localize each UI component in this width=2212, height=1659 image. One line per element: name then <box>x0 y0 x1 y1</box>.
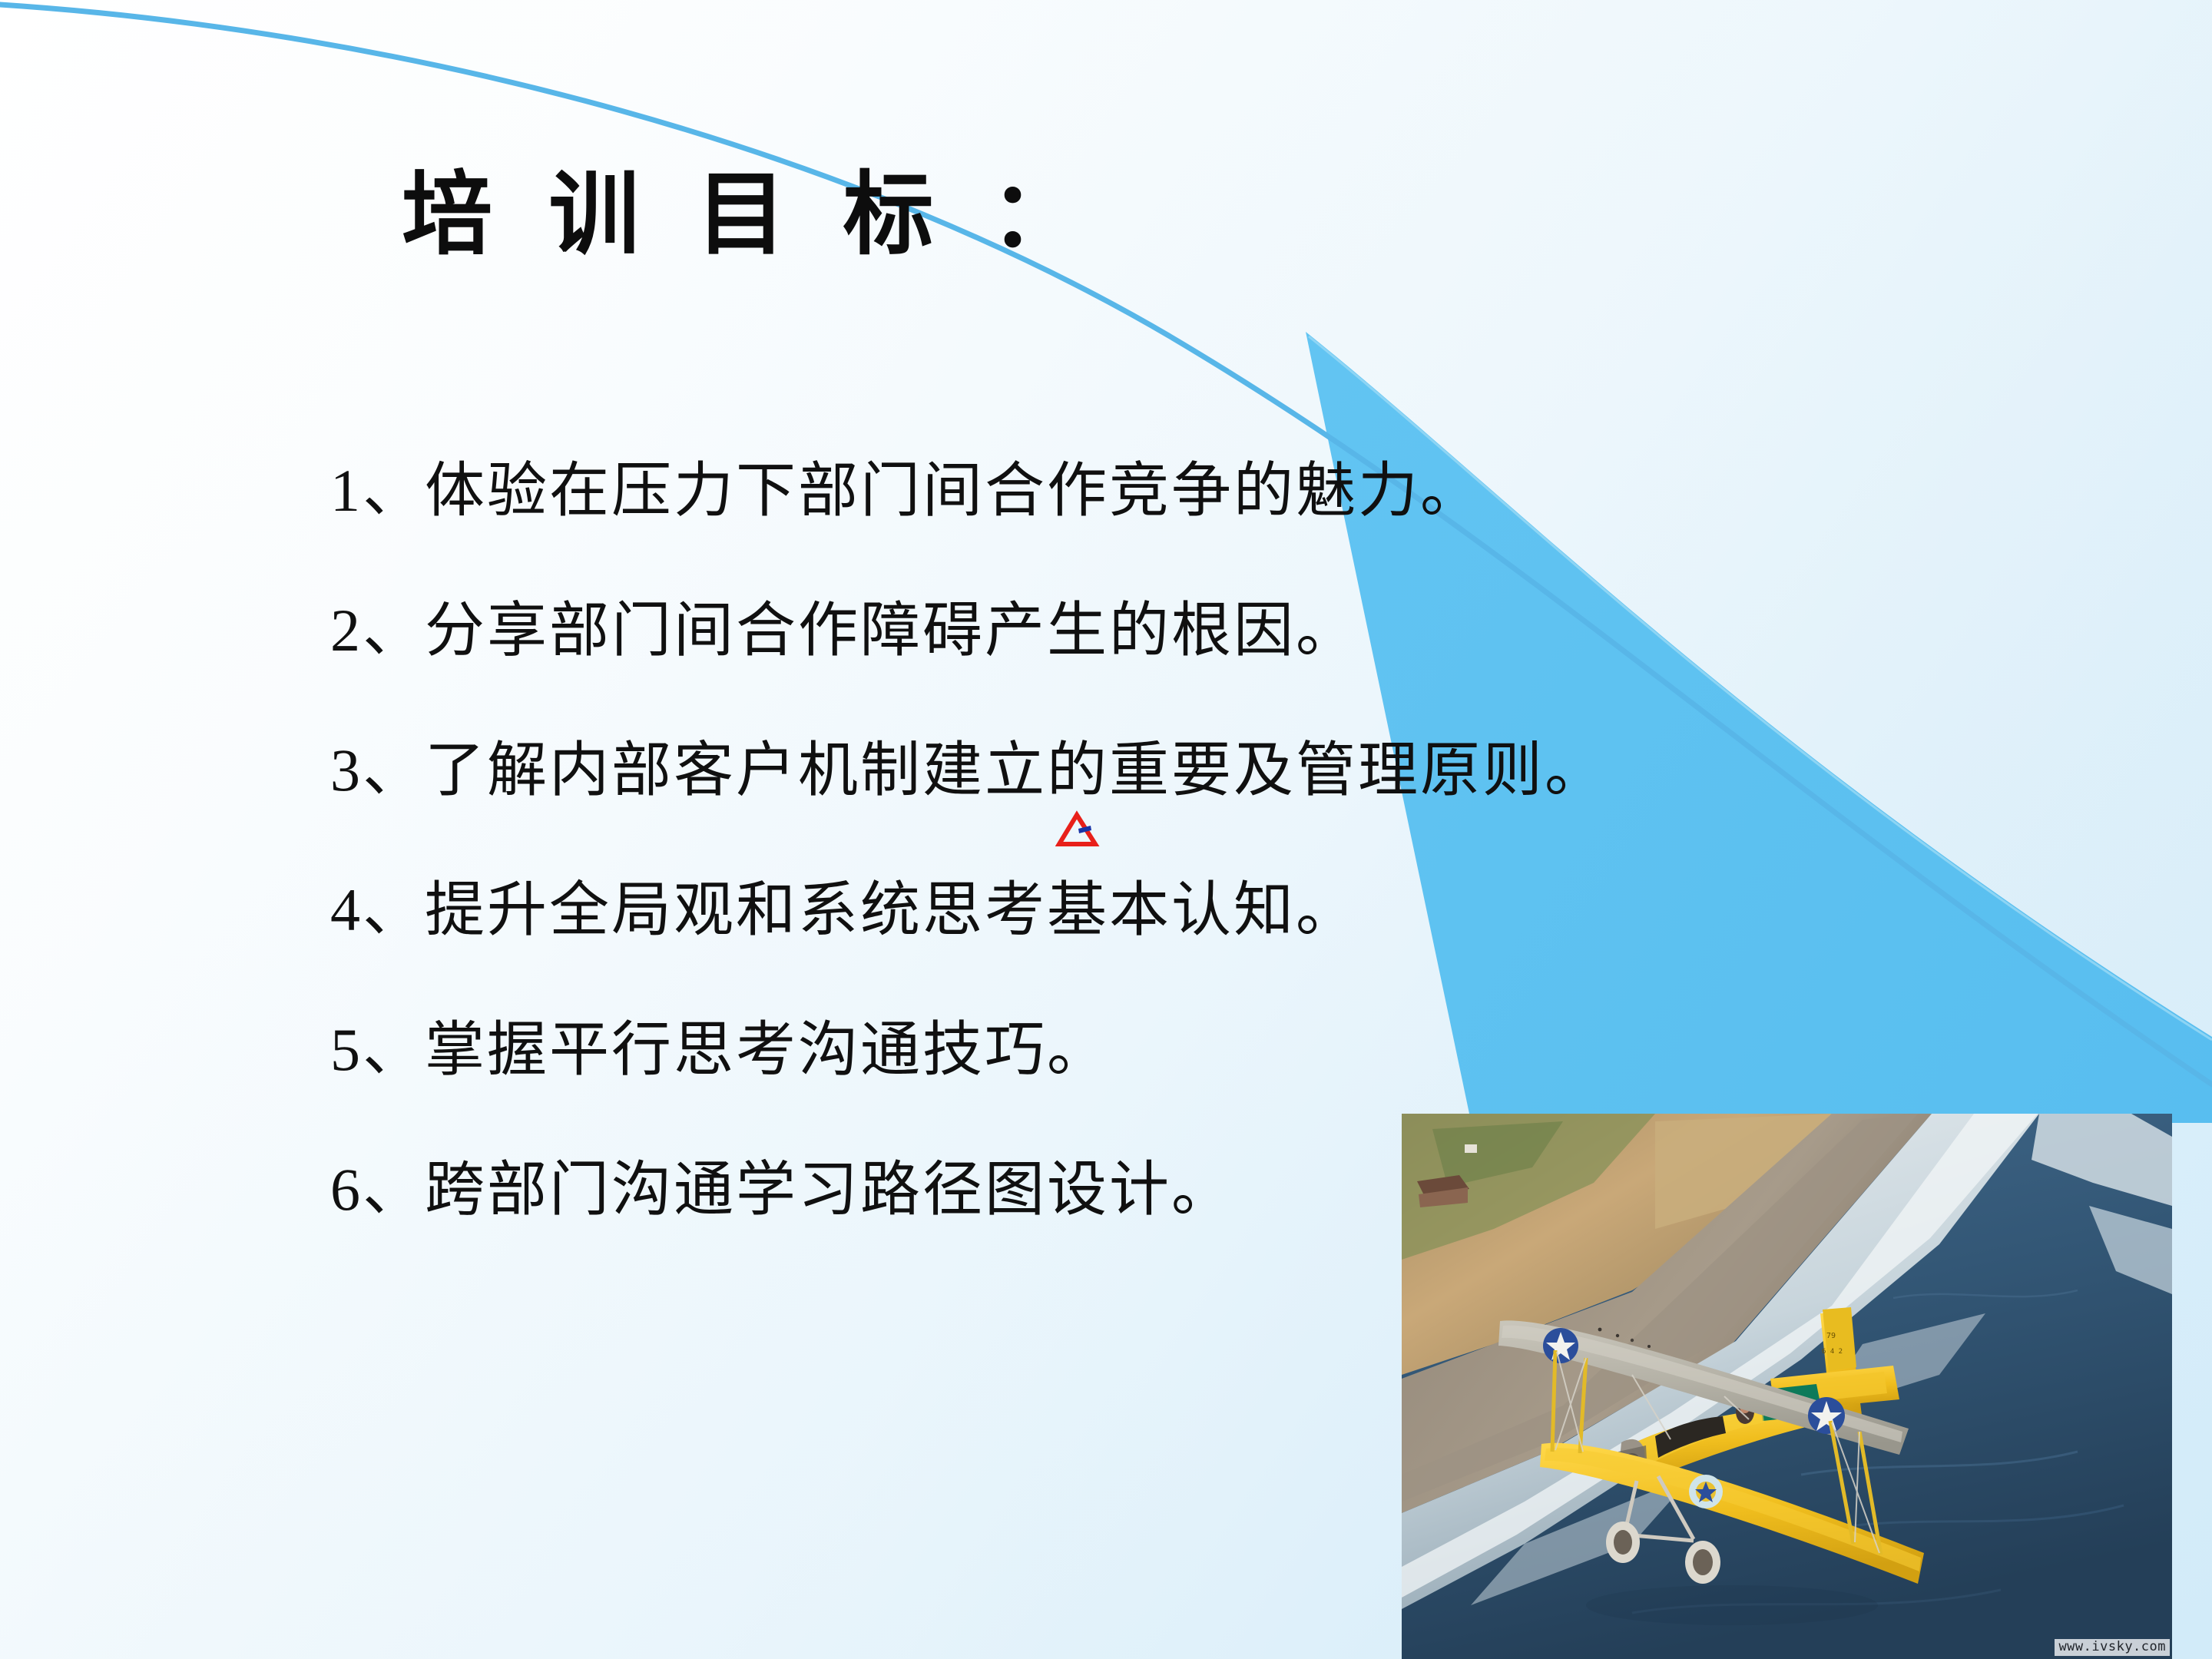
svg-text:79: 79 <box>1826 1332 1836 1340</box>
bullet-item-5: 5、掌握平行思考沟通技巧。 <box>330 1020 1866 1080</box>
red-triangle-blue-slash-mark-icon <box>1055 810 1109 850</box>
photo-watermark: www.ivsky.com <box>2055 1639 2170 1656</box>
photo-artwork: 79 6 4 2 <box>1402 1114 2172 1659</box>
presentation-slide: 培 训 目 标 ： 1、体验在压力下部门间合作竞争的魅力。 2、分享部门间合作障… <box>0 0 2212 1659</box>
bullet-item-4: 4、提升全局观和系统思考基本认知。 <box>330 880 1866 940</box>
slide-title: 培 训 目 标 ： <box>0 171 1482 261</box>
coastline-biplane-photo: 79 6 4 2 <box>1402 1114 2172 1659</box>
bullet-item-1: 1、体验在压力下部门间合作竞争的魅力。 <box>330 461 1866 521</box>
bullet-item-2: 2、分享部门间合作障碍产生的根因。 <box>330 601 1866 661</box>
bullet-item-3: 3、了解内部客户机制建立的重要及管理原则。 <box>330 740 1866 800</box>
svg-text:6 4 2: 6 4 2 <box>1822 1348 1843 1356</box>
